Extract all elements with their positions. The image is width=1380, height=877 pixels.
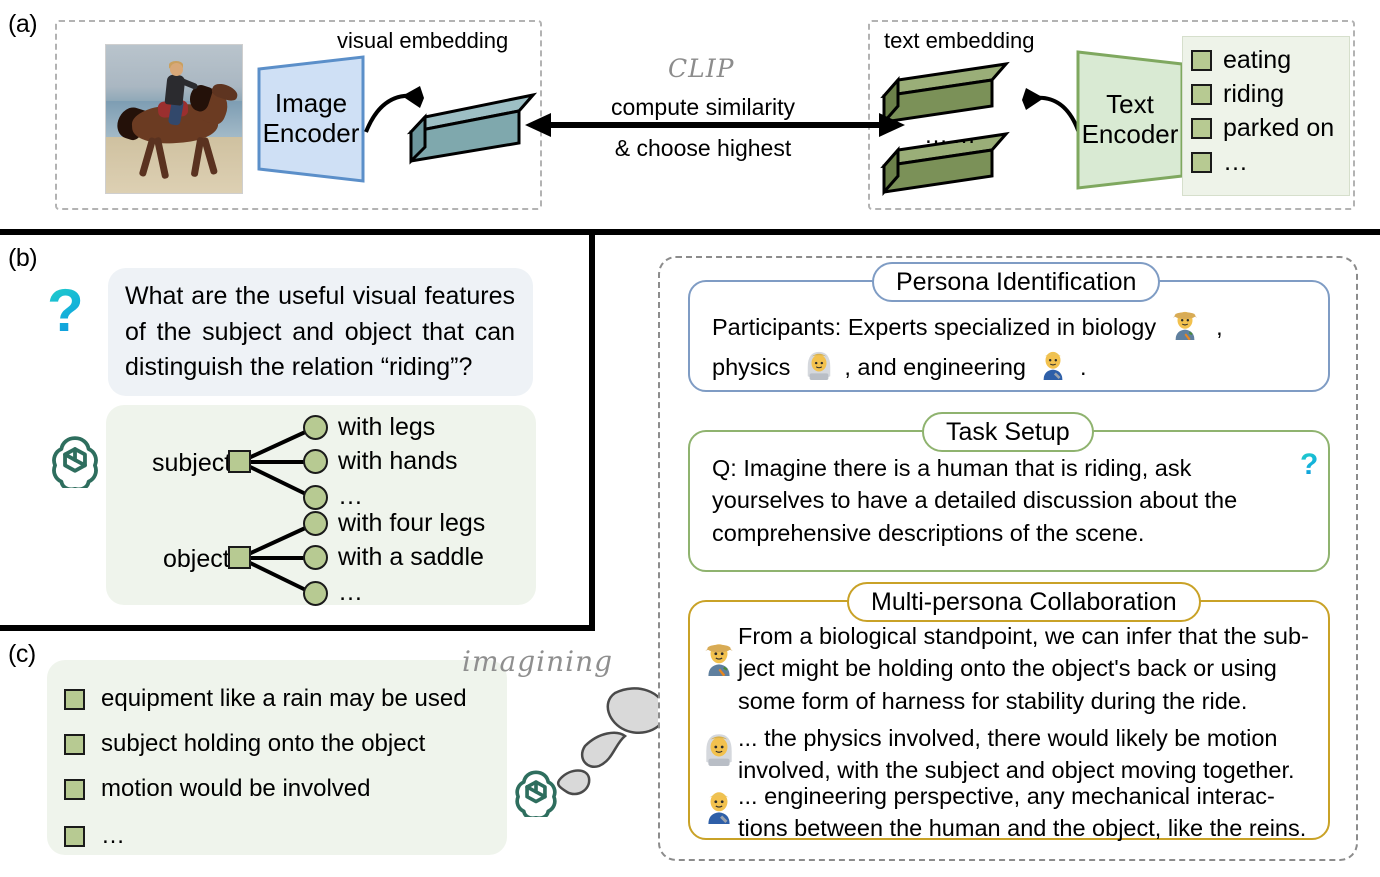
thought-bubbles-icon: [555, 680, 675, 810]
tree-leaf-label: with a saddle: [338, 543, 484, 572]
relation-item[interactable]: parked on: [1191, 111, 1339, 145]
question-mark-icon: ?: [47, 281, 84, 341]
persona-body-line2-post: .: [1080, 352, 1087, 384]
persona-body-line2-mid: , and engineering: [844, 352, 1026, 384]
collaboration-turn-text: ... the physics involved, there would li…: [738, 722, 1316, 787]
panel-b-right-divider: [589, 235, 595, 631]
persona-body-line1: Participants: Experts specialized in bio…: [712, 312, 1322, 344]
relation-swatch-icon: [1191, 50, 1212, 71]
tree-leaf-label: with legs: [338, 413, 435, 442]
relation-label: eating: [1223, 46, 1291, 75]
visual-embedding-container: visual embedding Image Encoder: [55, 20, 542, 210]
relation-label: riding: [1223, 80, 1284, 109]
panel-label-a: (a): [8, 10, 37, 39]
tree-root-node-subject[interactable]: [228, 450, 251, 473]
imagined-feature-swatch-icon: [64, 779, 85, 800]
engineer-avatar-icon: [702, 788, 736, 824]
bidirectional-similarity-arrow-icon: [525, 108, 905, 142]
image-encoder-label-line2: Encoder: [263, 119, 360, 149]
imagined-feature-label: motion would be involved: [101, 775, 371, 803]
tree-root-label-object: object: [163, 545, 230, 574]
relation-candidates-list: eating riding parked on …: [1182, 36, 1350, 196]
tree-leaf-node[interactable]: [303, 415, 328, 440]
imagined-feature-item[interactable]: motion would be involved: [64, 775, 371, 803]
imagining-label: imagining: [462, 645, 613, 678]
section-title-multi-persona-collaboration: Multi-persona Collaboration: [847, 582, 1201, 622]
persona-body-line2: physics , and engineering .: [712, 352, 1322, 384]
text-embedding-ellipsis: ……: [924, 122, 980, 150]
imagined-feature-item[interactable]: equipment like a rain may be used: [64, 685, 467, 713]
biologist-avatar-icon: [1170, 308, 1200, 340]
clip-label: CLIP: [668, 54, 734, 83]
imagined-feature-swatch-icon: [64, 826, 85, 847]
relation-label: parked on: [1223, 114, 1334, 143]
collaboration-turn-text: ... engineering perspective, any mechani…: [738, 780, 1316, 845]
biologist-avatar-icon: [702, 640, 736, 676]
tree-leaf-label: with four legs: [338, 509, 485, 538]
figure-root: (a) visual embedding Image Encoder: [0, 0, 1380, 877]
openai-logo-icon: [46, 430, 104, 488]
persona-body-line1-comma: ,: [1216, 312, 1223, 344]
panel-label-c: (c): [8, 640, 36, 669]
imagined-feature-item[interactable]: …: [64, 822, 125, 850]
text-encoder-label-line2: Encoder: [1082, 120, 1179, 150]
collaboration-turn-text: From a biological standpoint, we can inf…: [738, 620, 1316, 717]
relation-swatch-icon: [1191, 84, 1212, 105]
physicist-avatar-icon: [804, 348, 834, 380]
text-encoder-label-line1: Text: [1082, 90, 1179, 120]
tree-leaf-node[interactable]: [303, 485, 328, 510]
visual-embedding-bar-icon: [407, 87, 537, 167]
tree-root-label-subject: subject: [152, 449, 231, 478]
persona-body-line2-pre: physics: [712, 352, 790, 384]
task-setup-body: Q: Imagine there is a human that is ridi…: [712, 452, 1272, 549]
question-mark-icon: ?: [1300, 450, 1318, 480]
imagined-feature-swatch-icon: [64, 734, 85, 755]
imagined-feature-item[interactable]: subject holding onto the object: [64, 730, 425, 758]
relation-item[interactable]: eating: [1191, 43, 1339, 77]
engineer-avatar-icon: [1038, 348, 1068, 380]
horse-rider-photo: [105, 44, 243, 194]
text-embedding-caption: text embedding: [884, 28, 1034, 54]
text-embedding-container: text embedding …… Text Encoder: [868, 20, 1355, 210]
relation-item[interactable]: …: [1191, 145, 1339, 179]
tree-leaf-node[interactable]: [303, 581, 328, 606]
imagined-feature-swatch-icon: [64, 689, 85, 710]
panel-label-b: (b): [8, 244, 37, 273]
section-title-persona-identification: Persona Identification: [872, 262, 1160, 302]
image-encoder-block: Image Encoder: [257, 55, 365, 183]
section-title-task-setup: Task Setup: [922, 412, 1094, 452]
tree-leaf-label: …: [338, 482, 363, 511]
text-encoder-to-embedding-arrow-icon: [1006, 82, 1086, 142]
imagined-feature-label: subject holding onto the object: [101, 730, 425, 758]
tree-leaf-node[interactable]: [303, 545, 328, 570]
question-text: What are the useful visual features of t…: [125, 279, 515, 386]
visual-embedding-caption: visual embedding: [337, 28, 508, 54]
relation-swatch-icon: [1191, 118, 1212, 139]
tree-leaf-node[interactable]: [303, 449, 328, 474]
panel-a-bottom-divider: [0, 229, 1380, 235]
relation-swatch-icon: [1191, 152, 1212, 173]
image-encoder-label-line1: Image: [263, 89, 360, 119]
physicist-avatar-icon: [702, 730, 736, 766]
persona-body-line1-text: Participants: Experts specialized in bio…: [712, 312, 1156, 344]
panel-b-bottom-divider: [0, 625, 595, 631]
relation-label: …: [1223, 148, 1248, 177]
imagined-feature-label: …: [101, 822, 125, 850]
tree-root-node-object[interactable]: [228, 546, 251, 569]
tree-leaf-node[interactable]: [303, 511, 328, 536]
imagined-feature-label: equipment like a rain may be used: [101, 685, 467, 713]
tree-leaf-label: …: [338, 578, 363, 607]
tree-leaf-label: with hands: [338, 447, 458, 476]
text-encoder-block: Text Encoder: [1076, 50, 1184, 190]
relation-item[interactable]: riding: [1191, 77, 1339, 111]
